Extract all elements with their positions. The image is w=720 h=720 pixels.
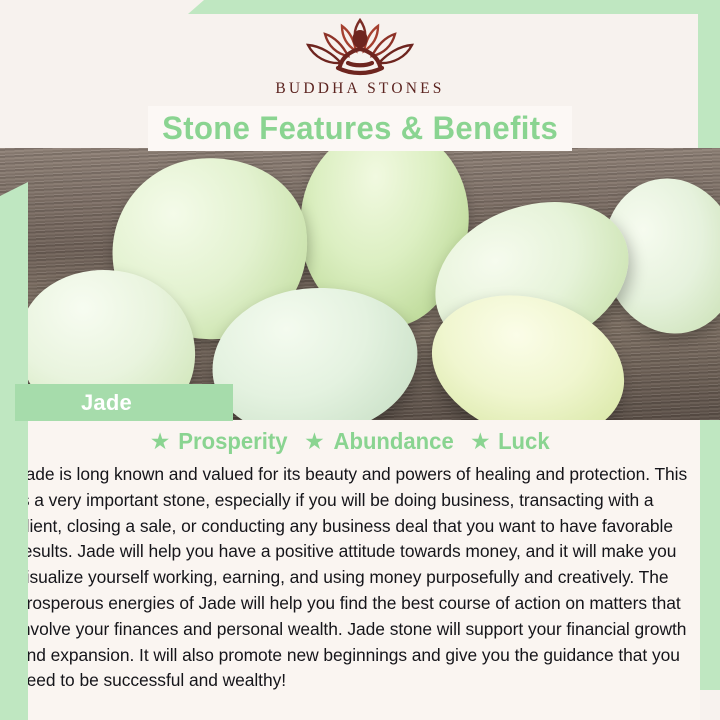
brand-wordmark: BUDDHA STONES bbox=[275, 80, 444, 98]
star-icon: ★ bbox=[304, 430, 325, 453]
content-panel: ★ Prosperity ★ Abundance ★ Luck Jade is … bbox=[0, 420, 700, 720]
lotus-meditation-icon bbox=[298, 14, 422, 78]
accent-bar-top-right bbox=[188, 0, 720, 14]
stone-name-label: Jade bbox=[81, 390, 132, 416]
brand-logo: BUDDHA STONES bbox=[0, 14, 720, 106]
benefits-row: ★ Prosperity ★ Abundance ★ Luck bbox=[0, 428, 700, 455]
benefit-item: ★ Prosperity bbox=[150, 428, 290, 455]
stone-features-infographic: BUDDHA STONES Stone Features & Benefits … bbox=[0, 0, 720, 720]
benefit-label: Luck bbox=[498, 428, 550, 455]
benefit-item: ★ Luck bbox=[470, 428, 550, 455]
star-icon: ★ bbox=[470, 430, 491, 453]
page-title: Stone Features & Benefits bbox=[162, 110, 558, 147]
stone-name-band: Jade bbox=[15, 384, 233, 421]
benefit-label: Abundance bbox=[333, 428, 453, 455]
benefit-label: Prosperity bbox=[179, 428, 288, 455]
star-icon: ★ bbox=[150, 430, 171, 453]
title-banner: Stone Features & Benefits bbox=[148, 106, 572, 151]
stone-photo bbox=[0, 148, 720, 420]
stone-description: Jade is long known and valued for its be… bbox=[17, 462, 689, 694]
accent-bar-left bbox=[0, 182, 28, 720]
benefit-item: ★ Abundance bbox=[304, 428, 456, 455]
